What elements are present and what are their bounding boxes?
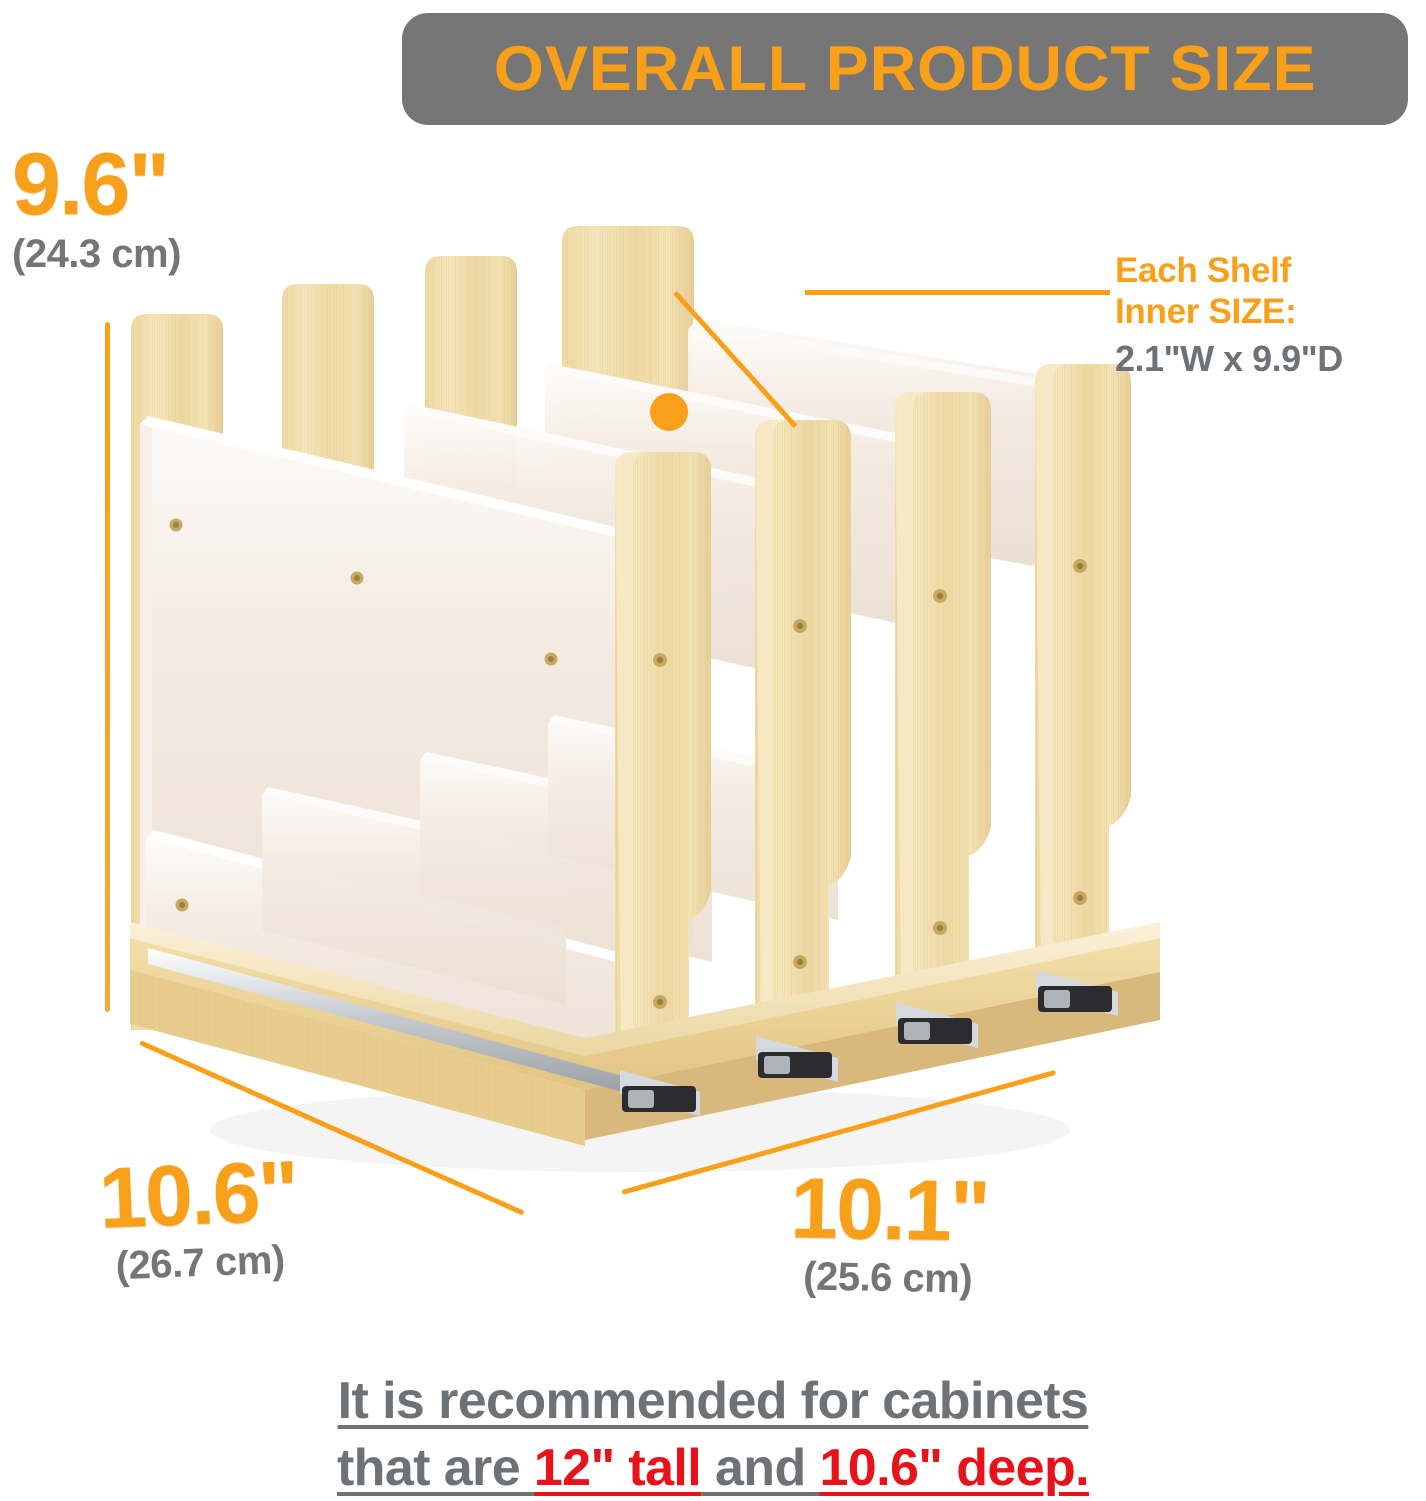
page-title: OVERALL PRODUCT SIZE <box>494 33 1317 105</box>
callout-line-2: Inner SIZE: <box>1115 291 1415 332</box>
lower-front-rail <box>146 830 636 1100</box>
callout-line-1: Each Shelf <box>1115 250 1415 291</box>
drawer-slide-hardware <box>148 948 1118 1116</box>
rear-white-rail <box>693 310 1041 565</box>
dimension-depth: 10.1" (25.6 cm) <box>789 1168 989 1299</box>
dimension-height-inch: 9.6" <box>12 142 181 226</box>
recommendation-line-1: It is recommended for cabinets <box>0 1368 1426 1435</box>
recommendation-block: It is recommended for cabinets that are … <box>0 1368 1426 1501</box>
callout-leader-horizontal <box>805 290 1110 295</box>
recommendation-line-2: that are 12" tall and 10.6" deep. <box>0 1435 1426 1501</box>
white-divider-panels <box>140 322 1038 1082</box>
callout-shelf-inner-size: Each Shelf Inner SIZE: 2.1"W x 9.9"D <box>1115 250 1415 380</box>
recommendation-text-2a: that are <box>337 1439 534 1497</box>
callout-line-3: 2.1"W x 9.9"D <box>1115 338 1415 380</box>
dimension-line-height <box>105 322 110 1012</box>
dimension-width: 10.6" (26.7 cm) <box>98 1151 301 1286</box>
dimension-width-cm: (26.7 cm) <box>115 1239 301 1286</box>
front-bamboo-panel-group <box>615 364 1131 1062</box>
callout-leader-diagonal <box>673 291 797 428</box>
lower-white-dividers <box>262 715 844 1005</box>
recommendation-highlight-depth: 10.6" deep. <box>819 1439 1089 1497</box>
dimension-depth-inch: 10.1" <box>790 1168 990 1253</box>
dimension-height-cm: (24.3 cm) <box>12 234 181 274</box>
recommendation-text-1: It is recommended for cabinets <box>338 1372 1089 1430</box>
rear-divider-group <box>131 226 694 1030</box>
dimension-depth-cm: (25.6 cm) <box>803 1256 988 1299</box>
dimension-width-inch: 10.6" <box>98 1151 299 1240</box>
recommendation-highlight-height: 12" tall <box>534 1439 701 1497</box>
infographic-stage: OVERALL PRODUCT SIZE 9.6" (24.3 cm) 10.6… <box>0 0 1426 1500</box>
header-banner: OVERALL PRODUCT SIZE <box>402 13 1408 125</box>
recommendation-text-2c: and <box>701 1439 819 1497</box>
callout-point-dot <box>650 393 688 431</box>
bamboo-base <box>130 922 1160 1146</box>
dimension-height: 9.6" (24.3 cm) <box>12 142 181 274</box>
